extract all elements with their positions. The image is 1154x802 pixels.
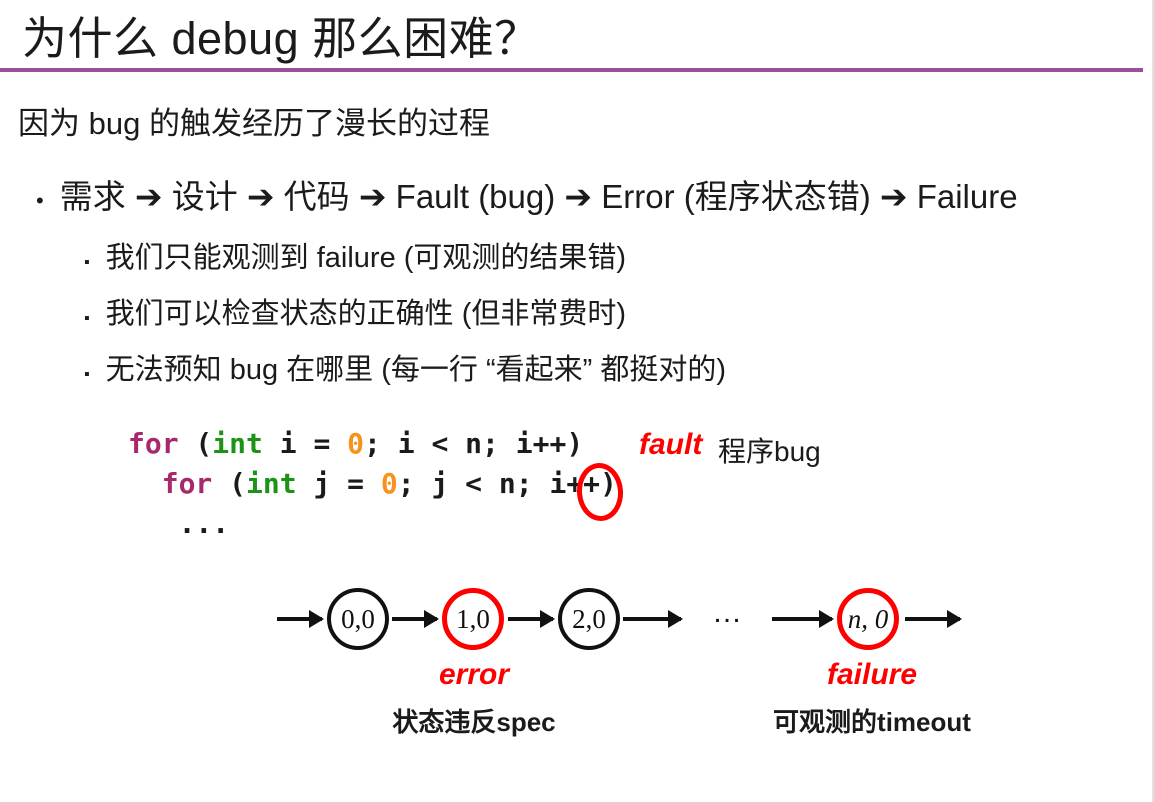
bullet-level2-text: 我们可以检查状态的正确性 (但非常费时): [106, 290, 626, 332]
state-node-label: n, 0: [848, 604, 889, 635]
code-type-int: int: [246, 467, 297, 500]
code-keyword-for: for: [128, 427, 179, 460]
bullet-level2-text: 我们只能观测到 failure (可观测的结果错): [106, 234, 626, 276]
title-divider: [0, 68, 1143, 72]
bullet-level2-unknown-bug: ▪ 无法预知 bug 在哪里 (每一行 “看起来” 都挺对的): [84, 346, 726, 388]
code-keyword-for: for: [162, 467, 213, 500]
state-node-n-0-failure: n, 0: [837, 588, 899, 650]
bullet-marker-square: ▪: [84, 367, 90, 383]
bullet-level2-observe-failure: ▪ 我们只能观测到 failure (可观测的结果错): [84, 234, 626, 276]
fault-label: fault: [639, 428, 702, 462]
code-indent: [128, 467, 162, 500]
arrow-node1-to-node2: [508, 617, 553, 621]
slide-root: 为什么 debug 那么困难？ 因为 bug 的触发经历了漫长的过程 • 需求 …: [0, 0, 1154, 802]
page-title: 为什么 debug 那么困难？: [22, 2, 540, 67]
caption-error-sub: 状态违反spec: [383, 702, 565, 739]
diagram-ellipsis: …: [712, 596, 744, 630]
bullet-level1: • 需求 ➔ 设计 ➔ 代码 ➔ Fault (bug) ➔ Error (程序…: [36, 170, 1018, 218]
code-line-1: for (int i = 0; i < n; i++): [128, 427, 583, 460]
state-diagram: 0,0 1,0 2,0 … n, 0: [0, 572, 1154, 672]
arrow-node-n-outgoing: [905, 617, 960, 621]
code-text: i =: [263, 427, 347, 460]
bullet-level2-text: 无法预知 bug 在哪里 (每一行 “看起来” 都挺对的): [106, 346, 726, 388]
arrow-into-node-n: [772, 617, 832, 621]
code-text: ; i < n; i++): [364, 427, 583, 460]
arrow-node0-to-node1: [392, 617, 437, 621]
state-node-label: 0,0: [341, 604, 375, 635]
bullet-level2-check-state: ▪ 我们可以检查状态的正确性 (但非常费时): [84, 290, 626, 332]
bullet-level1-text: 需求 ➔ 设计 ➔ 代码 ➔ Fault (bug) ➔ Error (程序状态…: [60, 170, 1018, 218]
code-punct: (: [212, 467, 246, 500]
state-node-2-0: 2,0: [558, 588, 620, 650]
lead-text: 因为 bug 的触发经历了漫长的过程: [18, 98, 490, 143]
code-line-2: for (int j = 0; j < n; i++): [128, 467, 617, 500]
code-punct: (: [179, 427, 213, 460]
code-line-3-ellipsis: ...: [128, 507, 229, 540]
code-type-int: int: [212, 427, 263, 460]
code-block: for (int i = 0; i < n; i++) for (int j =…: [128, 424, 617, 544]
arrow-node2-outgoing: [623, 617, 681, 621]
code-number-zero: 0: [347, 427, 364, 460]
code-number-zero: 0: [381, 467, 398, 500]
caption-failure-sub: 可观测的timeout: [761, 702, 983, 739]
state-node-1-0-error: 1,0: [442, 588, 504, 650]
state-node-0-0: 0,0: [327, 588, 389, 650]
arrow-into-node-0: [277, 617, 322, 621]
bullet-marker-square: ▪: [84, 311, 90, 327]
bullet-marker-square: ▪: [84, 255, 90, 271]
state-node-label: 2,0: [572, 604, 606, 635]
code-text: j =: [297, 467, 381, 500]
bullet-marker-round: •: [36, 190, 44, 212]
fault-note: 程序bug: [718, 430, 821, 470]
state-node-label: 1,0: [456, 604, 490, 635]
caption-error-emphasis: error: [427, 658, 521, 692]
caption-failure-emphasis: failure: [810, 658, 934, 692]
